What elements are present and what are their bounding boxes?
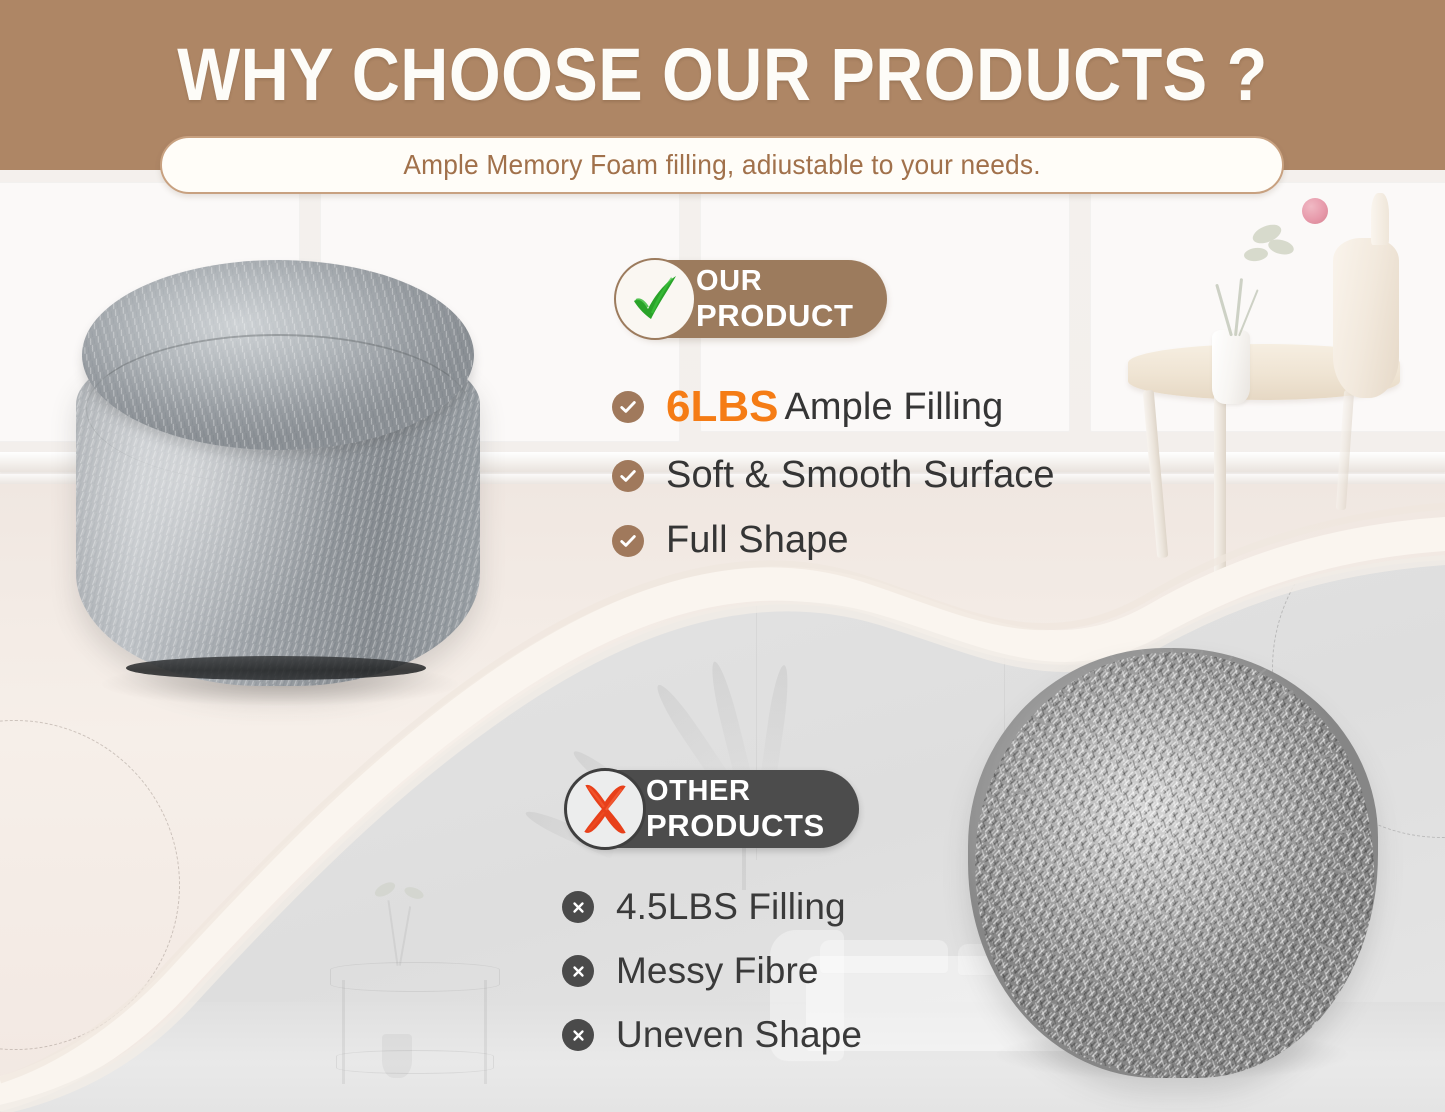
feature-highlight: 6LBS — [666, 382, 778, 432]
page-title: WHY CHOOSE OUR PRODUCTS ? — [72, 32, 1373, 117]
feature-label: Full Shape — [666, 519, 849, 562]
x-brush-glyph — [574, 778, 636, 840]
badge-line-1: OTHER — [646, 777, 825, 806]
plant-stem — [387, 900, 398, 966]
green-check-brush-icon — [614, 258, 696, 340]
check-glyph — [618, 531, 638, 551]
check-glyph — [618, 397, 638, 417]
beige-vase-neck — [1371, 193, 1389, 245]
our-product-photo — [68, 238, 488, 708]
our-product-feature-list: 6LBS Ample Filling Soft & Smooth Surface… — [612, 382, 1132, 562]
badge-line-1: OUR — [696, 267, 853, 296]
plant-pot — [382, 1034, 412, 1078]
x-circle-icon — [562, 1019, 594, 1051]
console-table-top — [330, 962, 500, 992]
x-glyph — [570, 899, 587, 916]
beige-vase — [1333, 238, 1399, 398]
pouf-seam — [86, 334, 470, 484]
feature-label: Soft & Smooth Surface — [666, 454, 1055, 497]
badge-text-group: OTHER PRODUCTS — [646, 777, 825, 841]
plant-leaf — [403, 885, 425, 901]
list-item: Full Shape — [612, 519, 1132, 562]
palm-frond — [760, 664, 792, 781]
other-products-feature-list: 4.5LBS Filling Messy Fibre Uneven Shape — [562, 886, 1082, 1056]
other-products-badge: OTHER PRODUCTS — [568, 770, 859, 848]
feature-label: 4.5LBS Filling — [616, 886, 846, 928]
badge-line-2: PRODUCTS — [646, 810, 825, 841]
red-x-brush-icon — [564, 768, 646, 850]
feature-label: Uneven Shape — [616, 1014, 862, 1056]
side-table-leg — [1143, 390, 1169, 558]
console-table-shelf — [336, 1050, 494, 1074]
x-glyph — [570, 1027, 587, 1044]
subtitle-pill: Ample Memory Foam filling, adiustable to… — [160, 136, 1284, 194]
list-item: Uneven Shape — [562, 1014, 1082, 1056]
check-glyph — [618, 466, 638, 486]
product-comparison-infographic: WHY CHOOSE OUR PRODUCTS ? Ample Memory F… — [0, 0, 1445, 1112]
list-item: Messy Fibre — [562, 950, 1082, 992]
pouf-base-trim — [126, 656, 426, 680]
check-brush-glyph — [625, 269, 685, 329]
subtitle-text: Ample Memory Foam filling, adiustable to… — [403, 149, 1040, 181]
feature-label: Ample Filling — [784, 386, 1003, 429]
our-product-badge: OUR PRODUCT — [618, 260, 887, 338]
white-vase — [1212, 330, 1250, 404]
x-circle-icon — [562, 891, 594, 923]
check-circle-icon — [612, 460, 644, 492]
check-circle-icon — [612, 391, 644, 423]
badge-text-group: OUR PRODUCT — [696, 267, 853, 331]
pink-bloom — [1302, 198, 1328, 224]
x-glyph — [570, 963, 587, 980]
list-item: Soft & Smooth Surface — [612, 454, 1132, 497]
list-item: 4.5LBS Filling — [562, 886, 1082, 928]
side-table-leg — [1214, 390, 1226, 576]
badge-line-2: PRODUCT — [696, 300, 853, 331]
x-circle-icon — [562, 955, 594, 987]
feature-label: Messy Fibre — [616, 950, 819, 992]
plant-leaf — [373, 879, 398, 899]
plant-stem — [399, 906, 411, 965]
list-item: 6LBS Ample Filling — [612, 382, 1132, 432]
side-table-leg — [1336, 390, 1354, 510]
check-circle-icon — [612, 525, 644, 557]
